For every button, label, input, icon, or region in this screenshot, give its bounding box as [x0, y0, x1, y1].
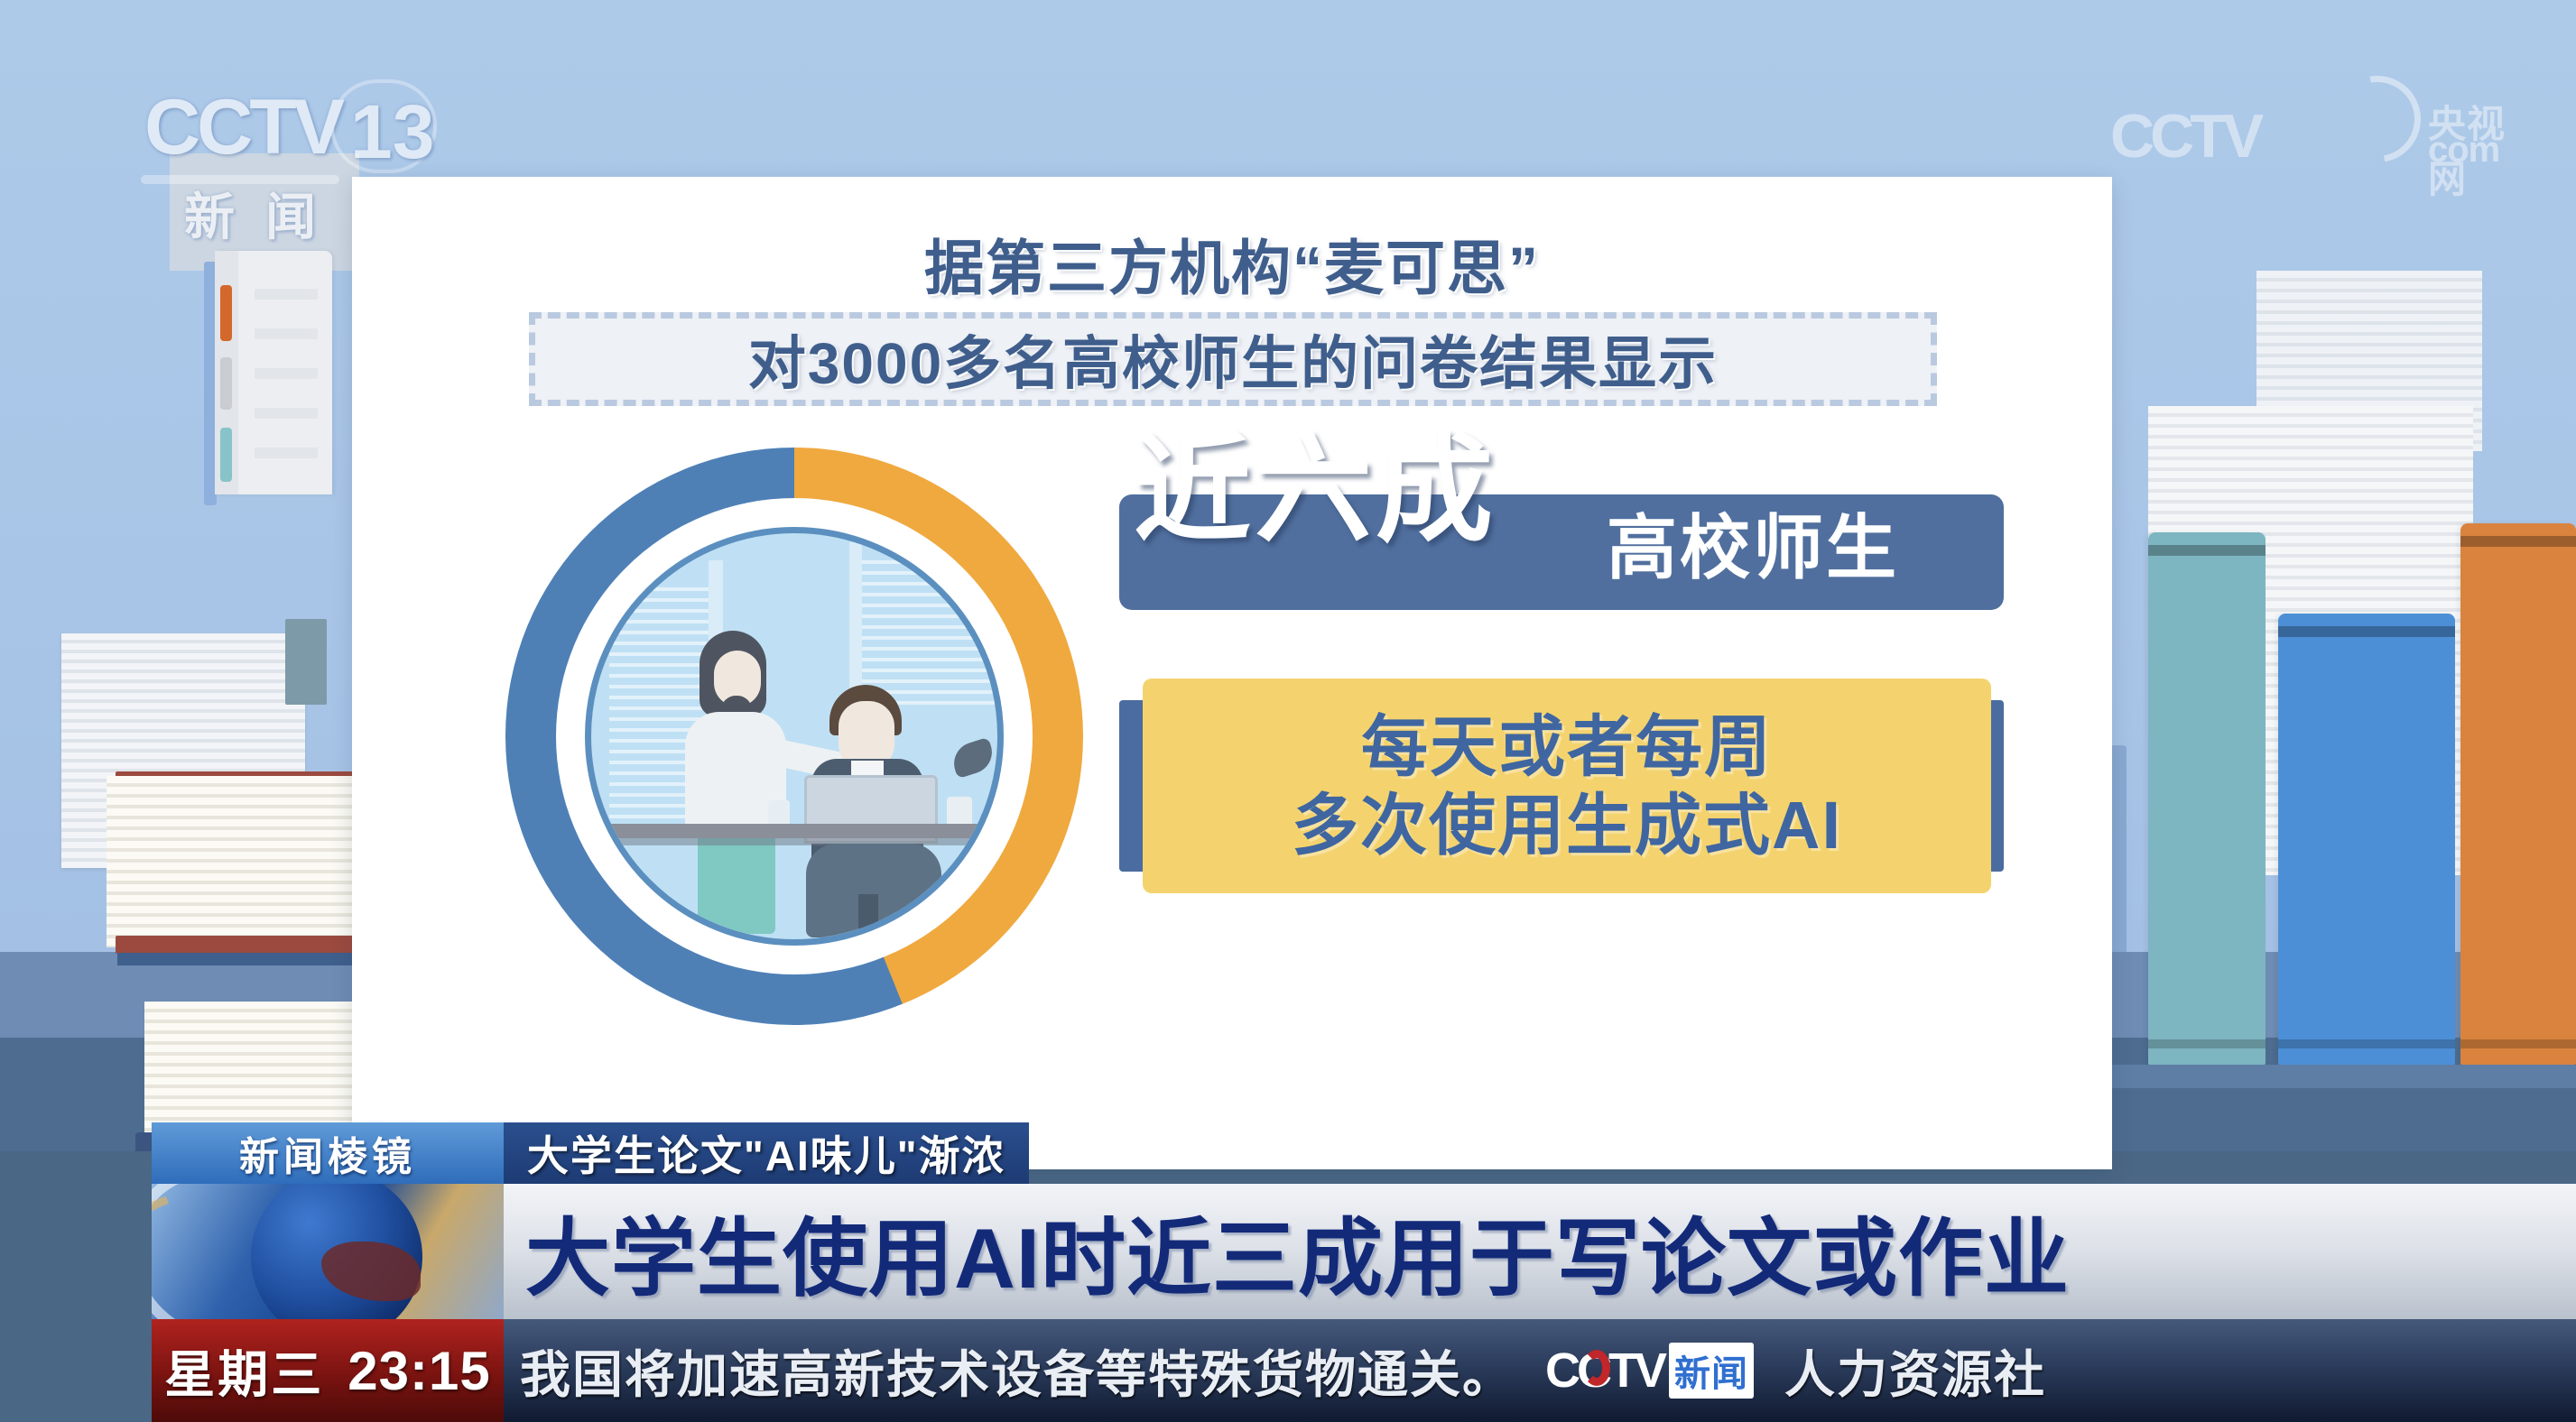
- card-headline-line1: 据第三方机构“麦可思”: [352, 220, 2112, 307]
- ticker-logo-red-arc-icon: [1583, 1350, 1610, 1386]
- lower-third-tagline-row: 新闻棱镜 大学生论文"AI味儿"渐浓: [152, 1122, 1029, 1184]
- watermark-cctv: CCTV: [2110, 101, 2259, 171]
- main-headline: 大学生使用AI时近三成用于写论文或作业: [525, 1190, 2070, 1313]
- binder-line: [255, 328, 318, 339]
- ticker-clock: 23:15: [347, 1340, 490, 1402]
- card-headline-line2: 对3000多名高校师生的问卷结果显示: [748, 318, 1718, 401]
- binder-tab-orange: [220, 285, 232, 341]
- yellow-box-line1: 每天或者每周: [1361, 707, 1773, 786]
- ticker-next-text: 人力资源社: [1784, 1334, 2046, 1408]
- program-tag-label: 新闻棱镜: [239, 1124, 416, 1182]
- cctv-watermark: CCTV 央视网 com: [2110, 70, 2507, 170]
- lower-third: 新闻棱镜 大学生论文"AI味儿"渐浓 大学生使用AI时近三成用于写论文或作业 星…: [152, 1122, 2576, 1422]
- infographic-card: 据第三方机构“麦可思” 对3000多名高校师生的问卷结果显示: [352, 177, 2112, 1169]
- topic-banner: 大学生论文"AI味儿"渐浓: [504, 1122, 1029, 1184]
- window-blinds-icon: [862, 560, 997, 705]
- news-ticker: 星期三 23:15 我国将加速高新技术设备等特殊货物通关。 CCTV 新闻 人力…: [152, 1319, 2576, 1422]
- yellow-box-line2: 多次使用生成式AI: [1292, 786, 1842, 864]
- ticker-time-block: 星期三 23:15: [152, 1319, 504, 1422]
- background-book-blue: [2278, 614, 2455, 1065]
- ticker-weekday: 星期三: [164, 1334, 324, 1408]
- channel-name: 新闻: [184, 177, 347, 250]
- background-paper-stack: [107, 776, 377, 947]
- card-headline-box: 对3000多名高校师生的问卷结果显示: [529, 312, 1937, 406]
- binder-line: [255, 368, 318, 379]
- yellow-callout-box: 每天或者每周 多次使用生成式AI: [1143, 679, 1991, 893]
- background-blue-book-band: [117, 953, 388, 965]
- desk-lamp-icon: [949, 737, 997, 780]
- background-book-teal: [2148, 532, 2266, 1065]
- channel-number: 13: [350, 88, 434, 176]
- ticker-body: 我国将加速高新技术设备等特殊货物通关。 CCTV 新闻 人力资源社: [504, 1319, 2576, 1422]
- globe-graphic: [152, 1184, 504, 1319]
- desk-shadow: [597, 838, 1004, 845]
- office-chair-stem: [858, 894, 878, 946]
- broadcast-frame: CCTV 13 新闻 CCTV 央视网 com 据第三方机构“麦可思” 对300…: [0, 0, 2576, 1422]
- stat-big-number: 近六成: [1134, 431, 1496, 549]
- background-teal-book: [285, 619, 327, 705]
- background-binder: [215, 251, 332, 494]
- main-headline-bar: 大学生使用AI时近三成用于写论文或作业: [504, 1184, 2576, 1319]
- background-shelf-board: [2058, 1065, 2576, 1088]
- watermark-swoosh-icon: [2317, 59, 2438, 180]
- binder-line: [255, 408, 318, 419]
- program-tag: 新闻棱镜: [152, 1122, 504, 1184]
- ticker-news-text: 我国将加速高新技术设备等特殊货物通关。: [520, 1334, 1515, 1408]
- donut-center-illustration: [585, 527, 1004, 946]
- watermark-domain: com: [2428, 130, 2499, 171]
- background-red-book-band: [116, 936, 386, 954]
- ticker-logo-news: 新闻: [1669, 1343, 1754, 1399]
- ticker-logo-cctv: CCTV: [1545, 1343, 1663, 1399]
- binder-line: [255, 289, 318, 300]
- desk-top: [597, 824, 1004, 838]
- binder-line: [255, 448, 318, 458]
- binder-tab-grey: [220, 357, 232, 410]
- donut-chart: [505, 448, 1083, 1025]
- background-book-orange: [2460, 523, 2576, 1065]
- binder-tab-teal: [220, 428, 232, 482]
- ticker-cctv-news-logo: CCTV 新闻: [1545, 1343, 1754, 1399]
- topic-label: 大学生论文"AI味儿"渐浓: [527, 1123, 1005, 1183]
- stat-subject: 高校师生: [1607, 512, 1899, 583]
